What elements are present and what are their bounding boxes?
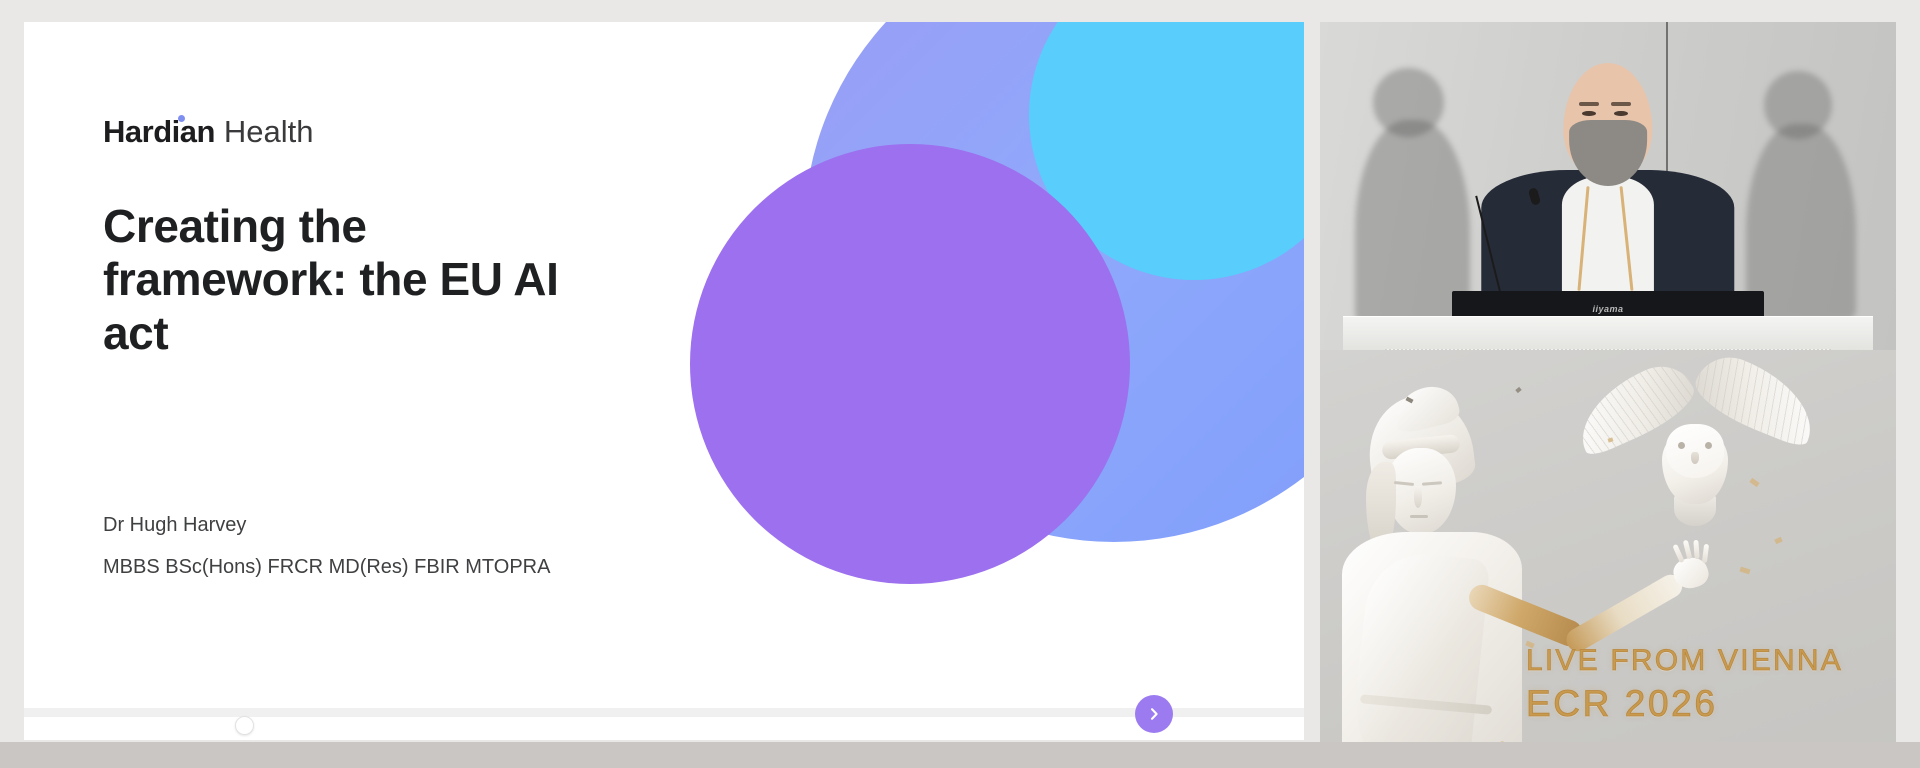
monitor-brand-label: iiyama (1592, 304, 1623, 314)
statue-forearm (1562, 571, 1686, 656)
slide-viewer: Hardian Health Creating the framework: t… (24, 22, 1304, 740)
slide-author-name: Dr Hugh Harvey (103, 514, 246, 537)
slide-decoration (664, 22, 1304, 696)
logo-mark-text: Hardian (103, 114, 215, 150)
chevron-right-icon (1146, 706, 1162, 722)
speaker-eye-right (1614, 111, 1628, 116)
logo-dot-icon (178, 115, 185, 122)
right-panel: iiyama (1320, 22, 1896, 768)
statue-mouth (1410, 515, 1428, 518)
slide-title: Creating the framework: the EU AI act (103, 200, 603, 360)
speaker-shirt (1562, 176, 1654, 307)
podium (1343, 316, 1873, 350)
speaker-eyebrow-left (1579, 102, 1599, 106)
progress-slider[interactable] (24, 708, 1304, 717)
owl-eye-right (1705, 442, 1712, 449)
speaker-video-feed[interactable]: iiyama (1320, 22, 1896, 350)
screen: Hardian Health Creating the framework: t… (0, 0, 1920, 768)
ecr-tagline: LIVE FROM VIENNA (1526, 646, 1843, 676)
owl-beak (1691, 452, 1699, 464)
purple-circle-decoration (690, 144, 1130, 584)
ecr-promo-text: LIVE FROM VIENNA ECR 2026 (1526, 646, 1843, 722)
owl-eye-left (1678, 442, 1685, 449)
speaker-eyebrow-right (1611, 102, 1631, 106)
next-slide-button[interactable] (1135, 695, 1173, 733)
logo-word-text: Health (224, 114, 314, 150)
speaker-eye-left (1582, 111, 1596, 116)
ecr-event-name: ECR 2026 (1526, 685, 1843, 722)
slide-author-credentials: MBBS BSc(Hons) FRCR MD(Res) FBIR MTOPRA (103, 556, 550, 579)
slide-controls (24, 696, 1304, 740)
owl-face (1666, 424, 1724, 478)
bottom-band (0, 742, 1920, 768)
hardian-health-logo: Hardian Health (103, 114, 314, 150)
slide-canvas: Hardian Health Creating the framework: t… (24, 22, 1304, 696)
athena-statue (1342, 382, 1552, 768)
ecr-promo-image[interactable]: LIVE FROM VIENNA ECR 2026 (1320, 350, 1896, 768)
statue-nose (1414, 486, 1422, 508)
slide-content: Hardian Health Creating the framework: t… (103, 22, 663, 696)
progress-slider-handle[interactable] (235, 716, 254, 735)
